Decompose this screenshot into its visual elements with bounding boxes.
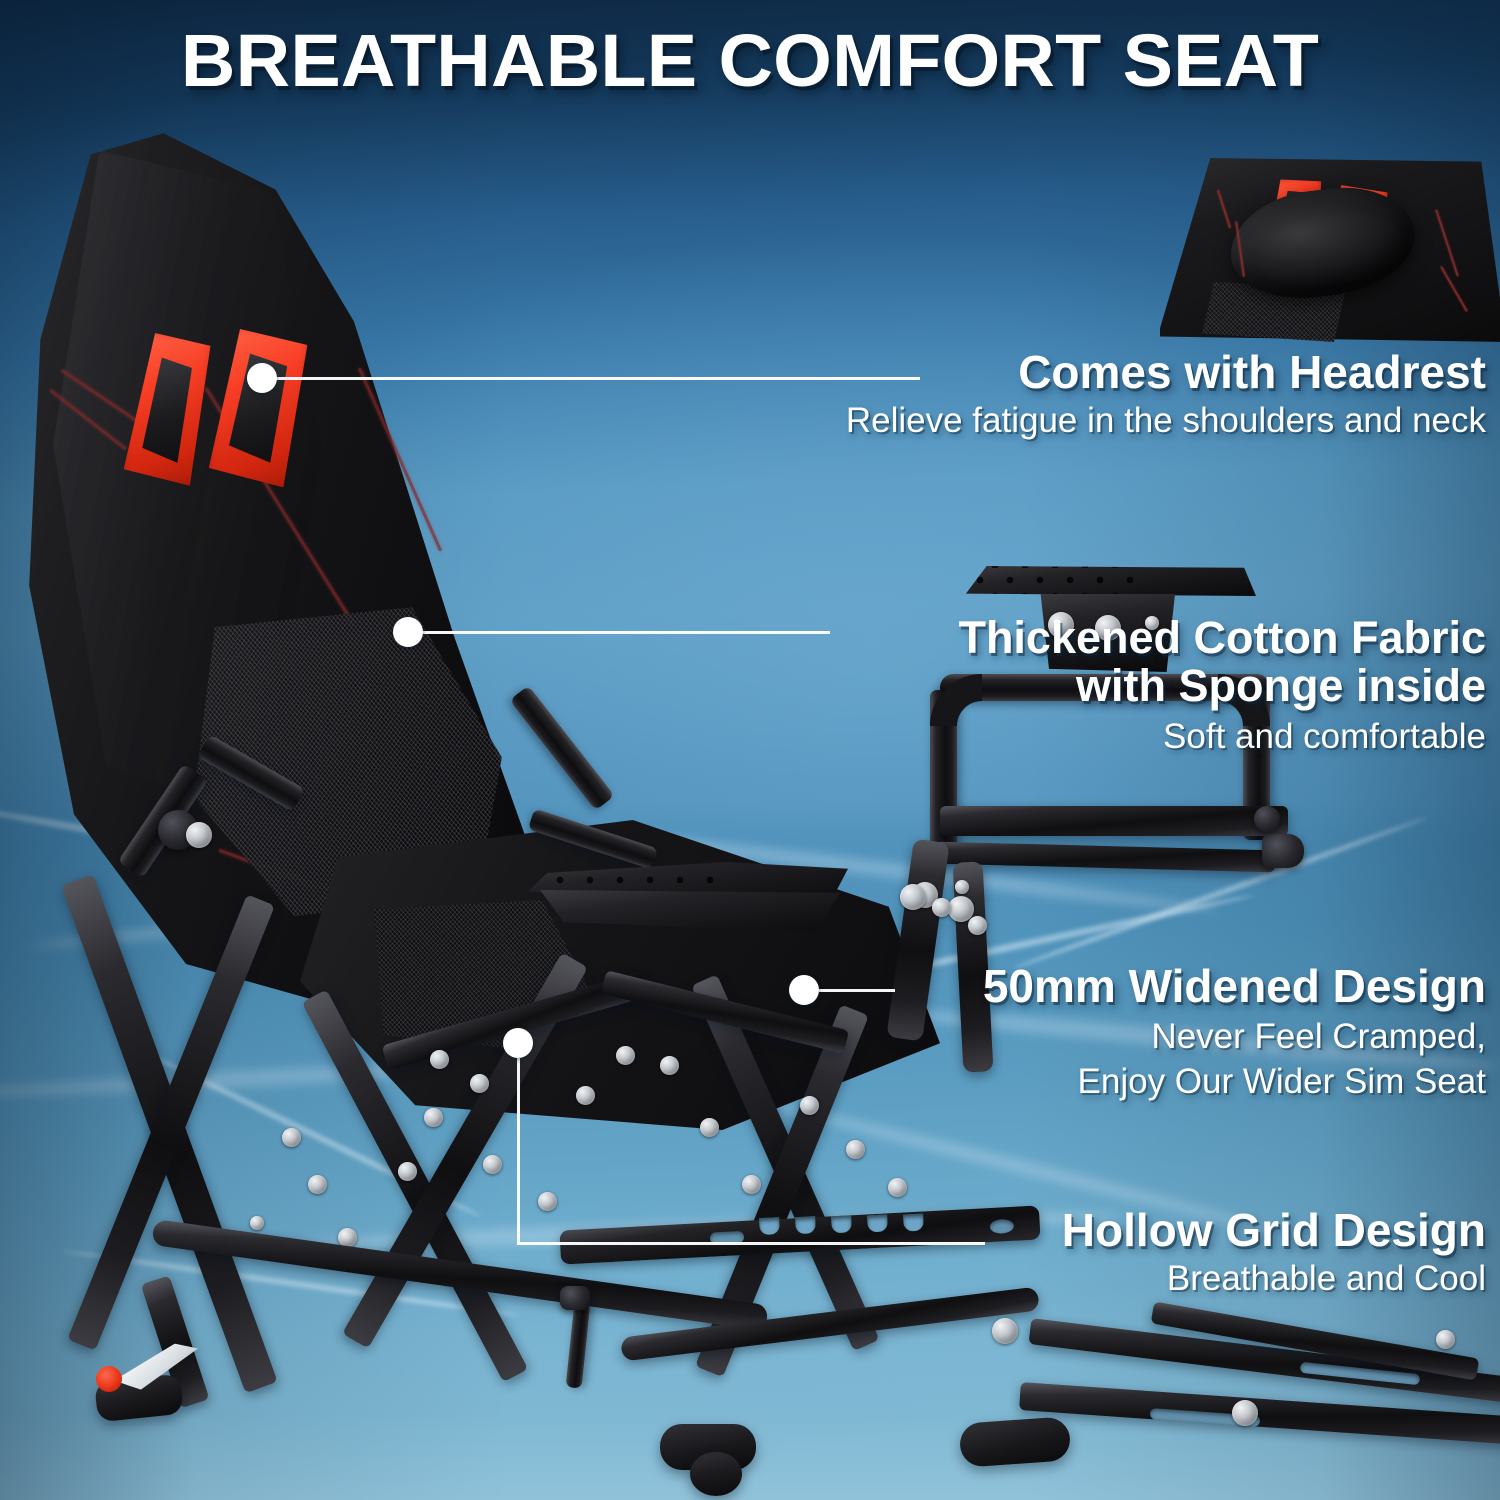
callout-dot-widened [789, 975, 819, 1005]
pivot-bolt [186, 822, 212, 848]
seat-side-rail [509, 685, 614, 810]
adjust-pin [566, 1301, 591, 1388]
callout-fabric-heading-line1: Thickened Cotton Fabric [958, 614, 1486, 662]
page-title: BREATHABLE COMFORT SEAT [0, 18, 1500, 103]
scissor-bolt [700, 1118, 719, 1137]
grid-notch [795, 1216, 816, 1234]
mount-plate-perforations [960, 566, 1256, 596]
caster-wheel [690, 1452, 742, 1496]
scissor-bolt [538, 1192, 557, 1211]
leader-line-fabric [423, 631, 830, 634]
callout-headrest-heading: Comes with Headrest [846, 348, 1486, 397]
scissor-bolt [660, 1056, 679, 1075]
scissor-bolt [483, 1155, 502, 1174]
grid-notch [903, 1214, 924, 1232]
callout-dot-hollow [503, 1028, 533, 1058]
floor-rail-bolt [1436, 1330, 1455, 1349]
callout-dot-headrest [247, 363, 277, 393]
steering-wheel-mount-plate [960, 566, 1256, 596]
callout-fabric: Thickened Cotton Fabric with Sponge insi… [958, 614, 1486, 757]
callout-headrest: Comes with Headrest Relieve fatigue in t… [846, 348, 1486, 440]
scissor-bolt [308, 1175, 327, 1194]
callout-fabric-subtext: Soft and comfortable [958, 717, 1486, 756]
scissor-bolt [800, 1096, 819, 1115]
scissor-bolt [424, 1108, 443, 1127]
leader-line-hollow-vertical [517, 1058, 520, 1245]
floor-rail-bolt [1232, 1400, 1258, 1426]
callout-widened: 50mm Widened Design Never Feel Cramped, … [983, 962, 1486, 1101]
leader-line-widened [819, 989, 895, 992]
frame-joint-bolt [968, 916, 987, 935]
grid-notch [759, 1217, 780, 1235]
foot-bolt-right [992, 1318, 1018, 1344]
wheel-angle-knob [1262, 834, 1304, 868]
scissor-bolt [576, 1086, 595, 1105]
infographic-canvas: BREATHABLE COMFORT SEAT Comes with Headr… [0, 0, 1500, 1500]
wheel-clamp-knob [1254, 806, 1280, 832]
callout-dot-fabric [393, 617, 423, 647]
grid-notch [867, 1214, 888, 1232]
shifter-plate-bolt [932, 898, 951, 917]
foot-accent-left [96, 1366, 122, 1392]
shifter-plate-bolt [955, 880, 969, 894]
callout-fabric-heading-line2: with Sponge inside [958, 662, 1486, 710]
scissor-bolt [430, 1050, 449, 1069]
callout-widened-subtext-line1: Never Feel Cramped, [983, 1017, 1486, 1056]
leader-line-hollow-horizontal [517, 1242, 985, 1245]
scissor-bolt [470, 1074, 489, 1093]
scissor-bolt [846, 1140, 865, 1159]
callout-widened-subtext-line2: Enjoy Our Wider Sim Seat [983, 1062, 1486, 1101]
wheel-frame-lower-arm-2 [935, 842, 1275, 873]
grid-notch [831, 1215, 852, 1233]
scissor-bolt [250, 1216, 264, 1230]
grid-slot [989, 1219, 1014, 1234]
scissor-bolt [398, 1162, 417, 1181]
shifter-plate-bolt [900, 884, 926, 910]
leader-line-headrest [277, 377, 920, 380]
callout-hollow-grid: Hollow Grid Design Breathable and Cool [1062, 1206, 1486, 1298]
headrest-detail-photo [1160, 152, 1500, 348]
wheel-frame-lower-arm [940, 806, 1288, 836]
callout-widened-heading: 50mm Widened Design [983, 962, 1486, 1011]
scissor-bolt [616, 1046, 635, 1065]
callout-hollow-heading: Hollow Grid Design [1062, 1206, 1486, 1255]
scissor-bolt [282, 1128, 301, 1147]
foot-cap-right [959, 1416, 1072, 1468]
scissor-bolt [888, 1178, 907, 1197]
adjust-pin-head [560, 1286, 590, 1310]
callout-hollow-subtext: Breathable and Cool [1062, 1259, 1486, 1298]
scissor-bolt [742, 1175, 761, 1194]
callout-headrest-subtext: Relieve fatigue in the shoulders and nec… [846, 401, 1486, 440]
